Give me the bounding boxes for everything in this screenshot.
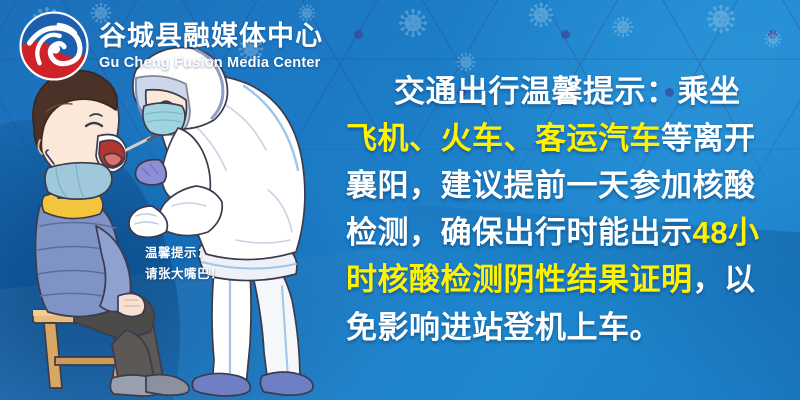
- headline-segment-4-2: 48小: [693, 215, 760, 250]
- logo-name-cn: 谷城县融媒体中心: [99, 23, 323, 50]
- illustration-caption: 温馨提示： 请张大嘴巴！: [145, 243, 223, 284]
- brand-logo: 谷城县融媒体中心 Gu Cheng Fusion Media Center: [18, 10, 323, 82]
- headline-segment-5-1: 时核酸检测阴性结果证明: [346, 262, 693, 297]
- caption-line-1: 温馨提示：: [145, 243, 223, 264]
- lattice-node-1: [354, 30, 363, 39]
- headline-line-5: 时核酸检测阴性结果证明，以: [346, 256, 776, 303]
- headline-line-1: 交通出行温馨提示：乘坐: [346, 68, 776, 115]
- gucheng-swirl-emblem-icon: [18, 10, 90, 82]
- headline-segment-1-1: 交通出行温馨提示：乘坐: [394, 74, 741, 109]
- headline-segment-2-1: 飞机、火车、客运汽车: [346, 121, 661, 156]
- virus-particle-icon-7: [528, 2, 554, 28]
- headline-segment-6-1: 免影响进站登机上车。: [346, 310, 661, 345]
- logo-name-en: Gu Cheng Fusion Media Center: [99, 56, 323, 71]
- headline-line-6: 免影响进站登机上车。: [346, 304, 776, 351]
- virus-particle-icon-5: [398, 8, 428, 38]
- poster-root: 谷城县融媒体中心 Gu Cheng Fusion Media Center 交通…: [0, 0, 800, 400]
- headline-line-2: 飞机、火车、客运汽车等离开: [346, 115, 776, 162]
- headline-line-3: 襄阳，建议提前一天参加核酸: [346, 162, 776, 209]
- virus-particle-icon-10: [764, 30, 782, 48]
- caption-line-2: 请张大嘴巴！: [145, 264, 223, 285]
- headline-line-4: 检测，确保出行时能出示48小: [346, 209, 776, 256]
- headline-segment-5-2: ，以: [693, 262, 756, 297]
- headline-segment-4-1: 检测，确保出行时能出示: [346, 215, 693, 250]
- virus-particle-icon-8: [612, 16, 634, 38]
- headline-text-block: 交通出行温馨提示：乘坐飞机、火车、客运汽车等离开襄阳，建议提前一天参加核酸检测，…: [346, 68, 776, 351]
- virus-particle-icon-9: [706, 4, 736, 34]
- headline-segment-2-2: 等离开: [661, 121, 756, 156]
- headline-segment-3-1: 襄阳，建议提前一天参加核酸: [346, 168, 756, 203]
- lattice-node-3: [561, 30, 570, 39]
